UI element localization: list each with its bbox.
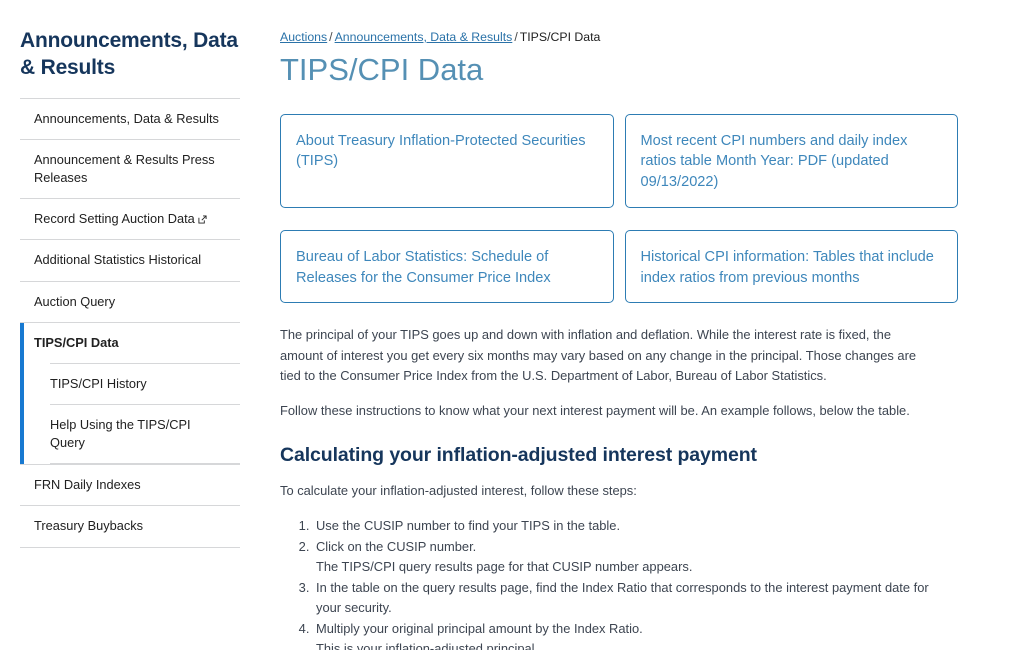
sidebar-item-frn-daily-indexes[interactable]: FRN Daily Indexes xyxy=(20,464,240,505)
sidebar-subnav: TIPS/CPI History Help Using the TIPS/CPI… xyxy=(20,363,240,464)
sidebar-link[interactable]: FRN Daily Indexes xyxy=(20,465,240,505)
link-card-grid-row-2: Bureau of Labor Statistics: Schedule of … xyxy=(280,230,958,303)
sidebar-link[interactable]: Announcements, Data & Results xyxy=(20,99,240,139)
breadcrumb-separator: / xyxy=(514,30,517,44)
steps-list: Use the CUSIP number to find your TIPS i… xyxy=(280,516,940,650)
sidebar-item-treasury-buybacks[interactable]: Treasury Buybacks xyxy=(20,505,240,547)
sidebar-link[interactable]: Record Setting Auction Data xyxy=(20,199,240,239)
sidebar-link[interactable]: Announcement & Results Press Releases xyxy=(20,140,240,198)
breadcrumb: Auctions/Announcements, Data & Results/T… xyxy=(280,30,958,46)
sidebar-item-tips-cpi-data[interactable]: TIPS/CPI Data xyxy=(20,323,240,363)
sidebar-link[interactable]: Additional Statistics Historical xyxy=(20,240,240,280)
card-label: Historical CPI information: Tables that … xyxy=(641,247,940,288)
step-text: Use the CUSIP number to find your TIPS i… xyxy=(316,518,620,533)
breadcrumb-link-auctions[interactable]: Auctions xyxy=(280,30,327,44)
card-label: Bureau of Labor Statistics: Schedule of … xyxy=(296,247,595,288)
card-bls-schedule-of-releases[interactable]: Bureau of Labor Statistics: Schedule of … xyxy=(280,230,614,303)
breadcrumb-separator: / xyxy=(329,30,332,44)
sidebar-item-tips-cpi-history[interactable]: TIPS/CPI History xyxy=(50,363,240,404)
step-text: In the table on the query results page, … xyxy=(316,580,929,615)
sidebar-title: Announcements, Data & Results xyxy=(20,28,240,82)
intro-paragraph-1: The principal of your TIPS goes up and d… xyxy=(280,325,925,386)
list-item: Click on the CUSIP number. The TIPS/CPI … xyxy=(313,537,940,577)
card-historical-cpi-information[interactable]: Historical CPI information: Tables that … xyxy=(625,230,959,303)
breadcrumb-current: TIPS/CPI Data xyxy=(520,30,601,44)
step-text: Multiply your original principal amount … xyxy=(316,621,643,636)
main-content: Auctions/Announcements, Data & Results/T… xyxy=(262,0,1024,650)
sidebar-link[interactable]: Treasury Buybacks xyxy=(20,506,240,546)
external-link-icon xyxy=(198,215,207,224)
section-heading-calculating-interest: Calculating your inflation-adjusted inte… xyxy=(280,444,958,467)
card-label: Most recent CPI numbers and daily index … xyxy=(641,131,940,193)
sidebar-item-announcements-data-results[interactable]: Announcements, Data & Results xyxy=(20,98,240,139)
sidebar-item-record-setting-auction-data[interactable]: Record Setting Auction Data xyxy=(20,198,240,239)
breadcrumb-link-announcements-data-results[interactable]: Announcements, Data & Results xyxy=(335,30,513,44)
page-root: Announcements, Data & Results Announceme… xyxy=(0,0,1024,650)
sidebar-item-help-using-tips-cpi-query[interactable]: Help Using the TIPS/CPI Query xyxy=(50,404,240,464)
sidebar-link[interactable]: Auction Query xyxy=(20,282,240,322)
sidebar-group-tips-cpi-data: TIPS/CPI Data TIPS/CPI History Help Usin… xyxy=(20,322,240,465)
sidebar-item-announcement-results-press-releases[interactable]: Announcement & Results Press Releases xyxy=(20,139,240,198)
intro-paragraph-2: Follow these instructions to know what y… xyxy=(280,401,925,421)
sidebar-sublink[interactable]: Help Using the TIPS/CPI Query xyxy=(50,405,240,463)
sidebar: Announcements, Data & Results Announceme… xyxy=(0,0,262,548)
step-note: This is your inflation-adjusted principa… xyxy=(316,639,940,650)
list-item: Use the CUSIP number to find your TIPS i… xyxy=(313,516,940,536)
step-note: The TIPS/CPI query results page for that… xyxy=(316,557,940,577)
section-intro-paragraph: To calculate your inflation-adjusted int… xyxy=(280,481,925,501)
sidebar-sublink[interactable]: TIPS/CPI History xyxy=(50,364,240,404)
sidebar-item-additional-statistics-historical[interactable]: Additional Statistics Historical xyxy=(20,239,240,280)
sidebar-link-label: Record Setting Auction Data xyxy=(34,211,195,226)
card-label: About Treasury Inflation-Protected Secur… xyxy=(296,131,595,172)
page-title: TIPS/CPI Data xyxy=(280,52,958,88)
step-text: Click on the CUSIP number. xyxy=(316,539,476,554)
list-item: In the table on the query results page, … xyxy=(313,578,940,618)
card-most-recent-cpi-numbers[interactable]: Most recent CPI numbers and daily index … xyxy=(625,114,959,208)
sidebar-item-auction-query[interactable]: Auction Query xyxy=(20,281,240,322)
card-about-tips[interactable]: About Treasury Inflation-Protected Secur… xyxy=(280,114,614,208)
link-card-grid-row-1: About Treasury Inflation-Protected Secur… xyxy=(280,114,958,208)
list-item: Multiply your original principal amount … xyxy=(313,619,940,650)
sidebar-nav: Announcements, Data & Results Announceme… xyxy=(20,98,240,548)
